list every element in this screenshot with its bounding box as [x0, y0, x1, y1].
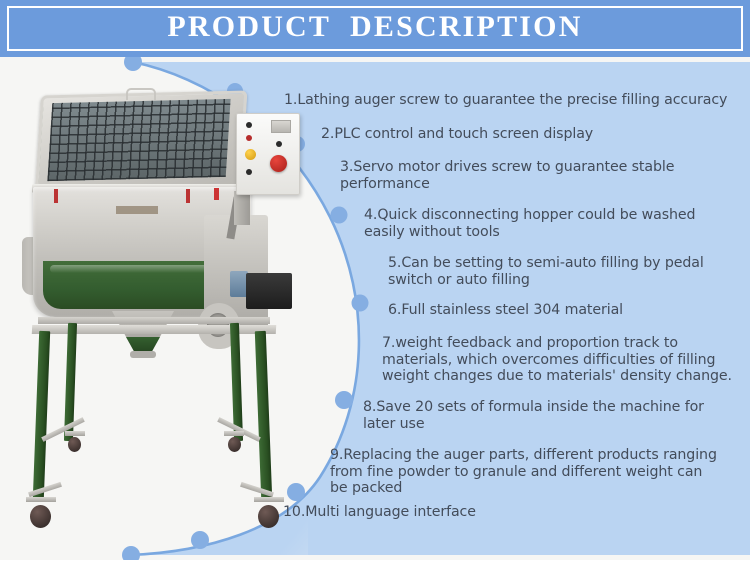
page-title: PRODUCT DESCRIPTION	[0, 0, 750, 57]
feature-item-7: 7.weight feedback and proportion track t…	[382, 335, 748, 385]
product-description-page: PRODUCT DESCRIPTION	[0, 0, 750, 574]
feature-item-6: 6.Full stainless steel 304 material	[388, 302, 744, 319]
feature-item-1: 1.Lathing auger screw to guarantee the p…	[284, 92, 744, 109]
feature-item-3: 3.Servo motor drives screw to guarantee …	[340, 159, 740, 192]
feature-item-5: 5.Can be setting to semi-auto filling by…	[388, 255, 744, 288]
header-banner: PRODUCT DESCRIPTION	[0, 0, 750, 57]
feature-item-2: 2.PLC control and touch screen display	[321, 126, 741, 143]
feature-item-4: 4.Quick disconnecting hopper could be wa…	[364, 207, 744, 240]
feature-list: 1.Lathing auger screw to guarantee the p…	[0, 57, 750, 574]
feature-item-8: 8.Save 20 sets of formula inside the mac…	[363, 399, 748, 432]
content-area: 1.Lathing auger screw to guarantee the p…	[0, 57, 750, 574]
feature-item-10: 10.Multi language interface	[283, 504, 703, 521]
feature-item-9: 9.Replacing the auger parts, different p…	[330, 447, 748, 497]
